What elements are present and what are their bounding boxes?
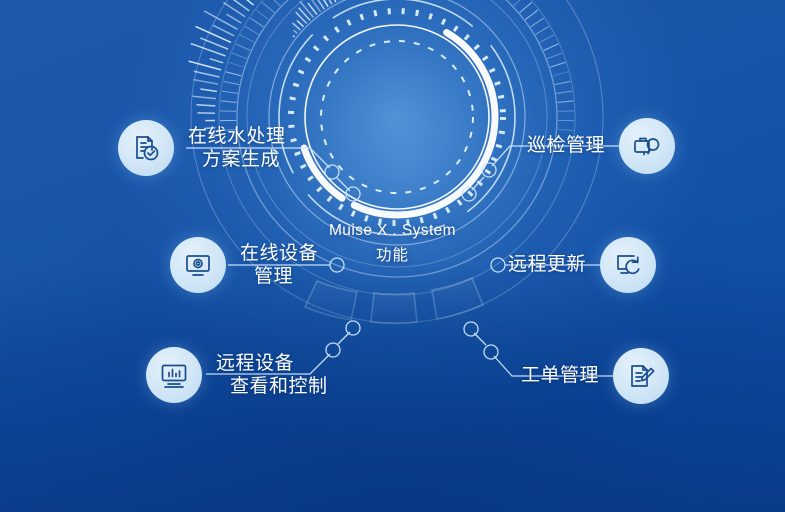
node-label-line1: 在线水处理 bbox=[188, 125, 286, 148]
node-label-line2: 方案生成 bbox=[202, 148, 286, 171]
document-check-icon bbox=[118, 120, 174, 176]
node-online-device-management[interactable]: 在线设备 管理 bbox=[170, 237, 318, 293]
hud-radial-graphic bbox=[162, 0, 632, 352]
node-label-line1: 巡检管理 bbox=[527, 134, 605, 157]
node-label-line1: 工单管理 bbox=[521, 364, 599, 387]
monitor-chart-icon bbox=[146, 347, 202, 403]
node-label-line1: 在线设备 bbox=[240, 242, 318, 265]
node-online-water-treatment[interactable]: 在线水处理 方案生成 bbox=[118, 120, 286, 176]
center-label: Muise X . System 功能 bbox=[310, 222, 475, 265]
infographic-canvas: Muise X . System 功能 在线水处理 方案生成 bbox=[0, 0, 785, 512]
monitor-device-icon bbox=[170, 237, 226, 293]
node-label-group: 远程更新 bbox=[508, 253, 586, 276]
node-label-group: 在线设备 管理 bbox=[240, 242, 318, 288]
node-label-line2: 管理 bbox=[254, 265, 318, 288]
node-label-group: 巡检管理 bbox=[527, 134, 605, 157]
camera-inspection-icon bbox=[619, 118, 675, 174]
node-label-group: 远程设备 查看和控制 bbox=[216, 352, 328, 398]
node-label-group: 工单管理 bbox=[521, 364, 599, 387]
document-pen-icon bbox=[613, 348, 669, 404]
node-remote-device-view-control[interactable]: 远程设备 查看和控制 bbox=[146, 347, 328, 403]
node-label-group: 在线水处理 方案生成 bbox=[188, 125, 286, 171]
node-label-line2: 查看和控制 bbox=[230, 375, 328, 398]
node-inspection-management[interactable]: 巡检管理 bbox=[527, 118, 675, 174]
node-work-order-management[interactable]: 工单管理 bbox=[521, 348, 669, 404]
center-subtitle: 功能 bbox=[310, 243, 475, 265]
screen-refresh-icon bbox=[600, 237, 656, 293]
node-label-line1: 远程更新 bbox=[508, 253, 586, 276]
node-label-line1: 远程设备 bbox=[216, 352, 328, 375]
center-title: Muise X . System bbox=[310, 222, 475, 240]
node-remote-update[interactable]: 远程更新 bbox=[508, 237, 656, 293]
